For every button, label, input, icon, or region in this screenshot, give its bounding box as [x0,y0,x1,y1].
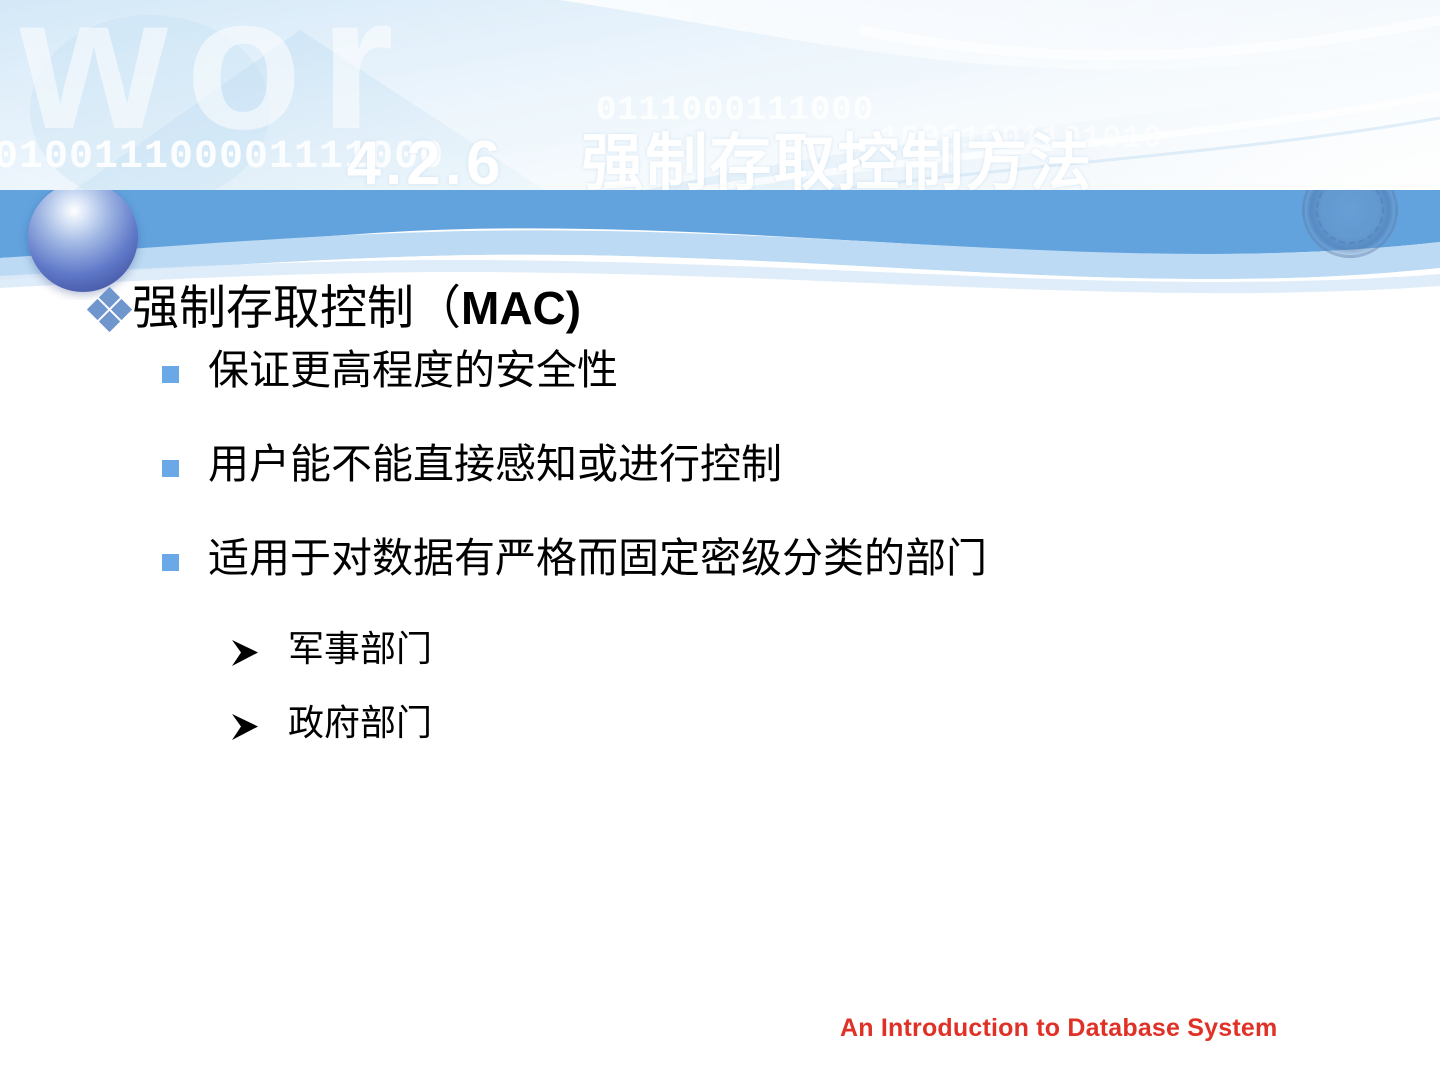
square-bullet-icon [162,366,179,383]
square-bullet-icon [162,460,179,477]
bullet-level3: 军事部门 [228,632,1440,706]
slide-content: 强制存取控制（MAC) 保证更高程度的安全性 用户能不能直接感知或进行控制 适用… [0,280,1440,780]
bullet-level3-text: 军事部门 [288,632,432,668]
presentation-slide: wor 010011100001111000 0111000111000 100… [0,0,1440,1080]
arrow-bullet-icon [228,710,262,744]
bullet-level1: 强制存取控制（MAC) [88,280,1440,350]
diamond-bullet-icon [88,288,132,332]
arrow-bullet-icon [228,636,262,670]
bullet-level1-en: MAC) [461,282,581,334]
square-bullet-icon [162,554,179,571]
bullet-level2-text: 适用于对数据有严格而固定密级分类的部门 [208,538,987,579]
bullet-level1-text: 强制存取控制（MAC) [132,285,581,332]
bullet-level2: 保证更高程度的安全性 [162,350,1440,444]
bullet-level2-text: 用户能不能直接感知或进行控制 [208,444,782,485]
bullet-level2: 用户能不能直接感知或进行控制 [162,444,1440,538]
slide-footer: An Introduction to Database System [840,1014,1277,1043]
bullet-level2: 适用于对数据有严格而固定密级分类的部门 [162,538,1440,632]
header-background-art: wor 010011100001111000 0111000111000 100… [0,0,1440,200]
bullet-level3: 政府部门 [228,706,1440,780]
header-swoosh-graphics [0,0,1440,200]
bullet-level1-cn: 强制存取控制（ [132,281,461,336]
bullet-level2-text: 保证更高程度的安全性 [208,350,618,391]
bullet-level3-text: 政府部门 [288,706,432,742]
